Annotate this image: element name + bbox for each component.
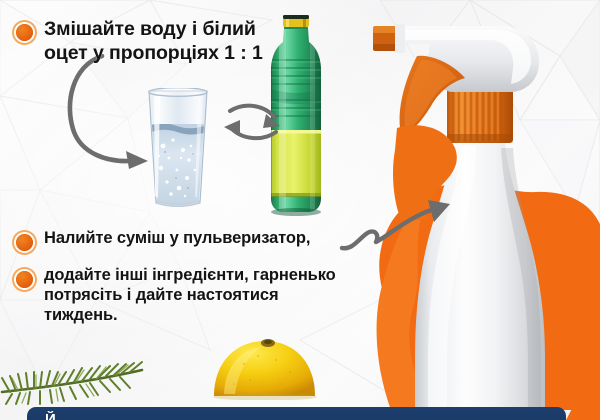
instruction-list: Змішайте воду і білий оцет у пропорціях …	[0, 0, 360, 340]
instruction-item-1: Змішайте воду і білий оцет у пропорціях …	[14, 18, 264, 66]
orange-bullet-dot	[14, 22, 35, 43]
instruction-text-3: додайте інші інгредієнти, гарненько потр…	[44, 265, 344, 325]
instruction-text-1: Змішайте воду і білий оцет у пропорціях …	[44, 18, 264, 66]
lemon-half-photo	[210, 338, 318, 400]
bottom-banner-text: Й	[45, 411, 56, 420]
instruction-item-2: Налийте суміш у пульверизатор,	[14, 228, 344, 253]
instruction-item-3: додайте інші інгредієнти, гарненько потр…	[14, 265, 344, 325]
infographic-canvas: Змішайте воду і білий оцет у пропорціях …	[0, 0, 600, 420]
instruction-text-2: Налийте суміш у пульверизатор,	[44, 228, 310, 248]
bottom-banner: Й	[27, 407, 566, 420]
orange-bullet-dot	[14, 232, 35, 253]
orange-corner-accent	[560, 405, 600, 420]
orange-bullet-dot	[14, 269, 35, 290]
rosemary-sprig-photo	[0, 348, 148, 406]
